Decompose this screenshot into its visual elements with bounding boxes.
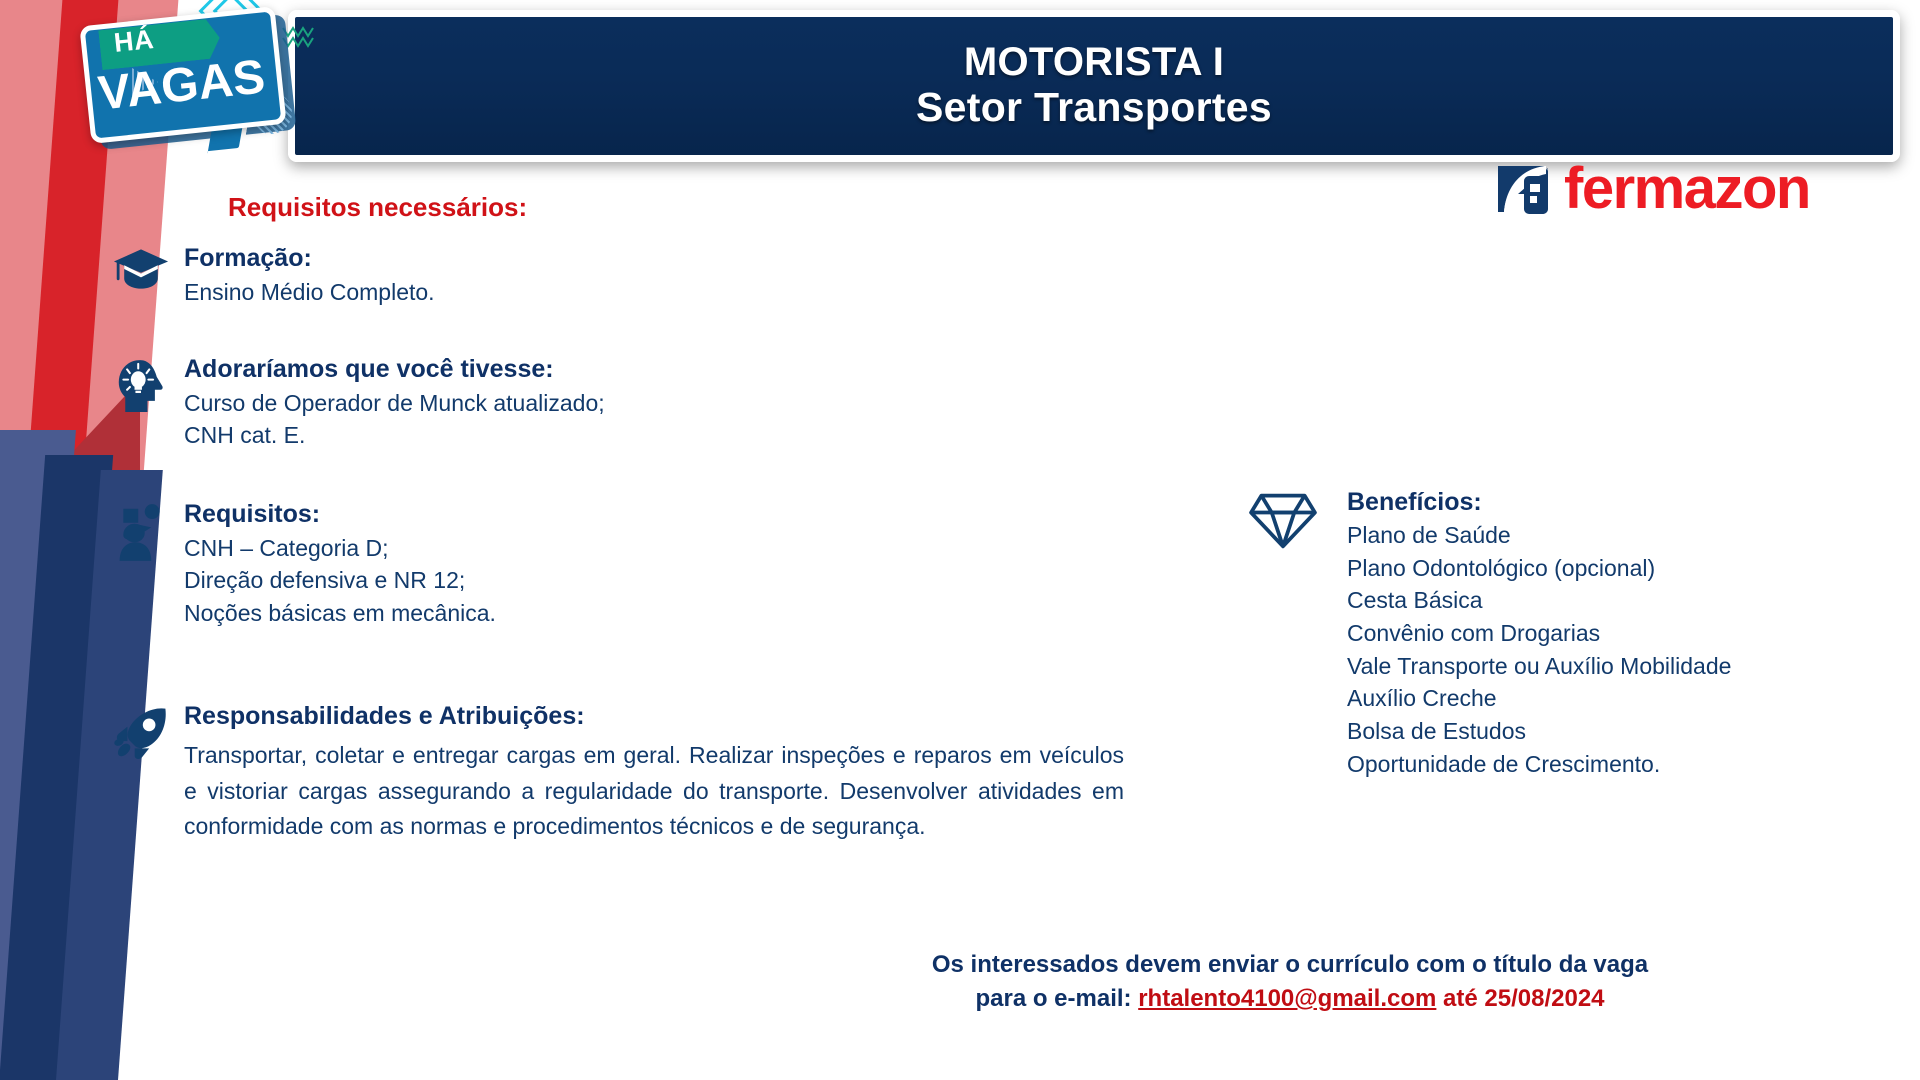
section-line: Noções básicas em mecânica. [184, 597, 496, 629]
email-link[interactable]: rhtalento4100@gmail.com [1138, 985, 1436, 1012]
section-formacao: Formação: Ensino Médio Completo. [110, 244, 830, 308]
section-responsabilidades: Responsabilidades e Atribuições: Transpo… [110, 702, 1180, 845]
benefit-item: Plano de Saúde [1347, 519, 1731, 552]
section-heading: Formação: [184, 244, 435, 273]
benefit-item: Convênio com Drogarias [1347, 617, 1731, 650]
section-line: CNH cat. E. [184, 419, 605, 451]
rocket-icon [110, 702, 172, 845]
company-name: fermazon [1564, 160, 1810, 218]
deadline-text: até 25/08/2024 [1436, 985, 1604, 1012]
benefit-item: Oportunidade de Crescimento. [1347, 748, 1731, 781]
section-line: CNH – Categoria D; [184, 532, 496, 564]
section-line: Ensino Médio Completo. [184, 276, 435, 308]
benefit-item: Plano Odontológico (opcional) [1347, 552, 1731, 585]
benefit-item: Vale Transporte ou Auxílio Mobilidade [1347, 650, 1731, 683]
instructions-line-1: Os interessados devem enviar o currículo… [760, 948, 1820, 982]
job-title-banner: MOTORISTA I Setor Transportes [288, 10, 1900, 162]
section-heading: Responsabilidades e Atribuições: [184, 702, 1124, 731]
section-heading: Requisitos: [184, 500, 496, 529]
company-logo: fermazon [1490, 158, 1810, 220]
instructions-line-2: para o e-mail: rhtalento4100@gmail.com a… [760, 982, 1820, 1016]
section-line: Direção defensiva e NR 12; [184, 564, 496, 596]
section-requisitos: Requisitos: CNH – Categoria D; Direção d… [110, 500, 870, 629]
benefits-heading: Benefícios: [1347, 488, 1731, 517]
head-lightbulb-icon [110, 355, 172, 452]
application-instructions: Os interessados devem enviar o currículo… [760, 948, 1820, 1016]
benefit-item: Auxílio Creche [1347, 682, 1731, 715]
person-skills-icon [110, 500, 172, 629]
badge-text-ha: HÁ [112, 24, 155, 59]
email-label: para o e-mail: [975, 985, 1138, 1012]
diamond-icon [1230, 488, 1335, 780]
section-beneficios: Benefícios: Plano de Saúde Plano Odontol… [1230, 488, 1870, 780]
section-adorariamos: Adoraríamos que você tivesse: Curso de O… [110, 355, 870, 452]
requirements-title: Requisitos necessários: [228, 192, 527, 223]
graduation-cap-icon [110, 244, 172, 308]
responsibilities-paragraph: Transportar, coletar e entregar cargas e… [184, 738, 1124, 845]
job-department: Setor Transportes [916, 84, 1272, 131]
benefit-item: Cesta Básica [1347, 584, 1731, 617]
section-line: Curso de Operador de Munck atualizado; [184, 387, 605, 419]
fermazon-mark-icon [1490, 158, 1552, 220]
job-title: MOTORISTA I [964, 41, 1224, 84]
ha-vagas-badge: HÁ VAGAS [70, 0, 320, 172]
section-heading: Adoraríamos que você tivesse: [184, 355, 605, 384]
benefit-item: Bolsa de Estudos [1347, 715, 1731, 748]
